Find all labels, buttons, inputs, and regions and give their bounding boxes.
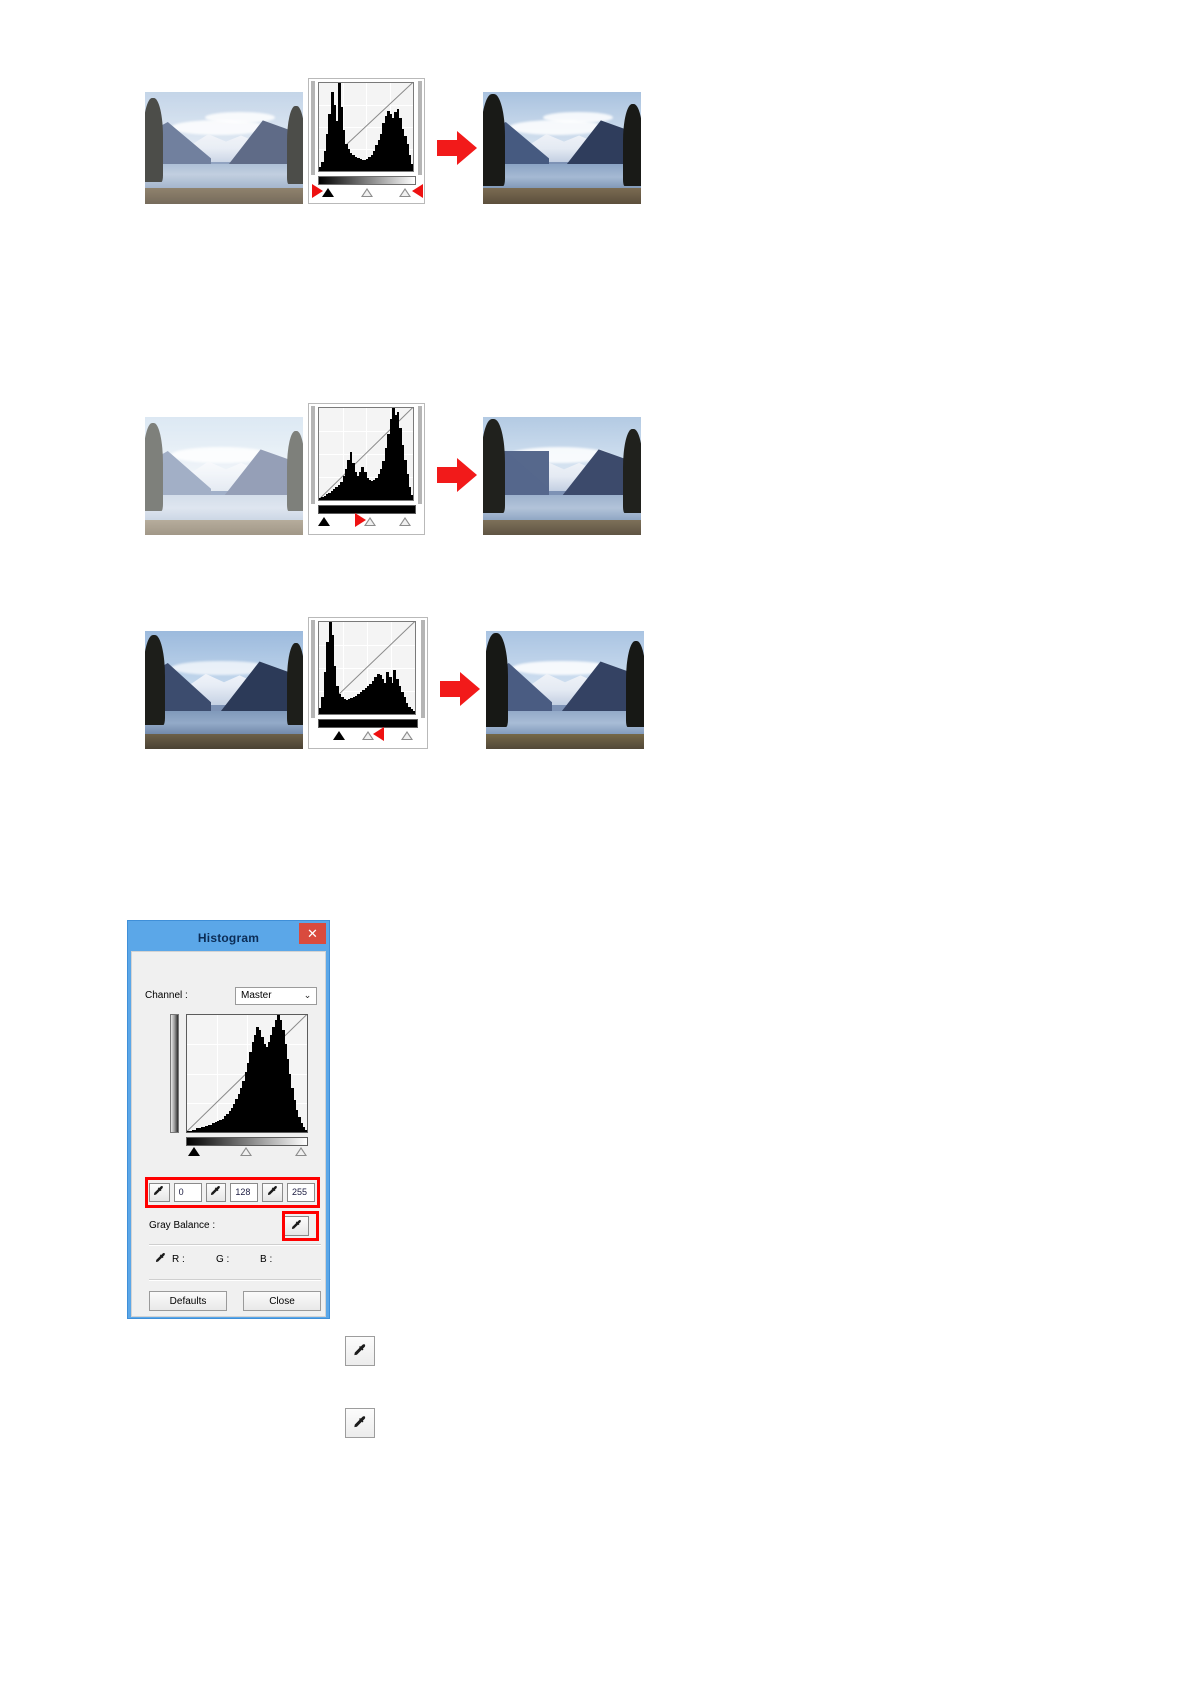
shoreline: [145, 734, 303, 749]
eyedropper-icon: [266, 1185, 280, 1199]
black-point-slider-3[interactable]: [333, 731, 345, 740]
gradient-strip-3: [318, 719, 418, 728]
arrow-shaft: [437, 467, 459, 483]
eyedropper-icon: [154, 1252, 168, 1266]
eyedropper-button-2[interactable]: [345, 1408, 375, 1438]
histogram-plot-1: [318, 82, 414, 172]
divider: [149, 1279, 321, 1281]
arrow-head: [457, 131, 477, 165]
tree: [486, 633, 508, 727]
white-point-slider-3[interactable]: [401, 731, 413, 740]
black-point-eyedropper-button[interactable]: [149, 1183, 170, 1202]
histogram-left-edge: [311, 81, 315, 175]
histogram-bar: [413, 711, 416, 714]
dialog-button-row: Defaults Close: [149, 1291, 321, 1311]
after-photo-1: [483, 92, 641, 204]
drag-cursor-left-1: [312, 184, 323, 198]
channel-label: Channel :: [145, 990, 188, 1001]
photo-tone-overlay: [145, 92, 303, 204]
dialog-titlebar[interactable]: Histogram ✕: [131, 924, 326, 951]
histogram-bar: [305, 1130, 308, 1132]
lake: [145, 711, 303, 735]
transform-arrow-2: [425, 417, 483, 535]
dialog-body: Channel : Master ⌄ 0: [131, 951, 326, 1317]
green-readout: G :: [216, 1254, 260, 1265]
histogram-bar: [411, 164, 414, 171]
red-readout: R :: [172, 1254, 216, 1265]
white-point-slider-1[interactable]: [399, 188, 411, 197]
photo-tone-overlay: [145, 417, 303, 535]
white-point-value[interactable]: 255: [287, 1183, 315, 1202]
gray-balance-label: Gray Balance :: [149, 1220, 215, 1231]
white-point-slider-2[interactable]: [399, 517, 411, 526]
drag-cursor-mid-2: [355, 513, 366, 527]
rgb-readout-row: R : G : B :: [154, 1252, 320, 1266]
dialog-black-point-slider[interactable]: [188, 1147, 200, 1156]
histogram-right-edge: [418, 406, 422, 504]
tree: [483, 419, 505, 513]
shoreline: [483, 188, 641, 204]
arrow-shaft: [437, 140, 459, 156]
black-point-slider-1[interactable]: [322, 188, 334, 197]
chevron-down-icon: ⌄: [299, 990, 316, 1001]
point-pickers-row: 0 128 255: [149, 1181, 315, 1203]
close-button[interactable]: Close: [243, 1291, 321, 1311]
shoreline: [483, 520, 641, 535]
gray-balance-eyedropper-button[interactable]: [284, 1216, 309, 1236]
eyedropper-icon: [352, 1415, 369, 1432]
tree: [483, 94, 505, 186]
eyedropper-icon: [209, 1185, 223, 1199]
histogram-dialog: Histogram ✕ Channel : Master ⌄: [127, 920, 330, 1319]
shoreline: [486, 734, 644, 749]
channel-row: Channel : Master ⌄: [145, 990, 317, 1001]
example-row-1: [145, 78, 641, 204]
midtone-point-value[interactable]: 128: [230, 1183, 258, 1202]
divider: [149, 1244, 321, 1246]
histogram-right-edge: [418, 81, 422, 175]
histogram-left-edge: [311, 406, 315, 504]
lake: [483, 495, 641, 521]
eyedropper-icon: [352, 1343, 369, 1360]
histogram-plot-3: [318, 621, 416, 715]
black-point-value[interactable]: 0: [174, 1183, 202, 1202]
histogram-panel-1: [308, 78, 425, 204]
dialog-midtone-slider[interactable]: [240, 1147, 252, 1156]
lake: [483, 164, 641, 190]
midtone-point-eyedropper-button[interactable]: [206, 1183, 227, 1202]
tree: [623, 104, 641, 186]
histogram-bar: [411, 495, 414, 500]
before-photo-3: [145, 631, 303, 749]
after-photo-2: [483, 417, 641, 535]
transform-arrow-1: [425, 92, 483, 204]
histogram-plot-2: [318, 407, 414, 501]
tree: [623, 429, 641, 513]
example-row-3: [145, 617, 644, 749]
output-level-bar: [170, 1014, 179, 1133]
blue-readout: B :: [260, 1254, 304, 1265]
histogram-right-edge: [421, 620, 425, 718]
gradient-strip-2: [318, 505, 416, 514]
before-photo-2: [145, 417, 303, 535]
midtone-slider-1[interactable]: [361, 188, 373, 197]
transform-arrow-3: [428, 631, 486, 749]
dialog-histogram-plot: [186, 1014, 308, 1133]
drag-cursor-right-1: [412, 184, 423, 198]
eyedropper-icon: [290, 1219, 304, 1233]
drag-cursor-mid-3: [373, 727, 384, 741]
eyedropper-button-1[interactable]: [345, 1336, 375, 1366]
histogram-panel-3: [308, 617, 428, 749]
after-photo-3: [486, 631, 644, 749]
gray-balance-row: Gray Balance :: [149, 1214, 315, 1238]
tree: [626, 641, 644, 727]
tree: [145, 635, 165, 725]
close-icon[interactable]: ✕: [299, 923, 326, 944]
dialog-histogram: [170, 1014, 309, 1144]
black-point-slider-2[interactable]: [318, 517, 330, 526]
eyedropper-icon: [152, 1185, 166, 1199]
example-row-2: [145, 403, 641, 535]
arrow-shaft: [440, 681, 462, 697]
defaults-button[interactable]: Defaults: [149, 1291, 227, 1311]
histogram-left-edge: [311, 620, 315, 718]
histogram-panel-2: [308, 403, 425, 535]
tree: [287, 643, 303, 725]
channel-select[interactable]: Master ⌄: [235, 987, 317, 1005]
gradient-strip-1: [318, 176, 416, 185]
arrow-head: [460, 672, 480, 706]
dialog-gradient-strip: [186, 1137, 308, 1146]
lake: [486, 711, 644, 735]
before-photo-1: [145, 92, 303, 204]
arrow-head: [457, 458, 477, 492]
dialog-title: Histogram: [198, 931, 259, 945]
dialog-white-point-slider[interactable]: [295, 1147, 307, 1156]
white-point-eyedropper-button[interactable]: [262, 1183, 283, 1202]
channel-value: Master: [236, 990, 299, 1001]
